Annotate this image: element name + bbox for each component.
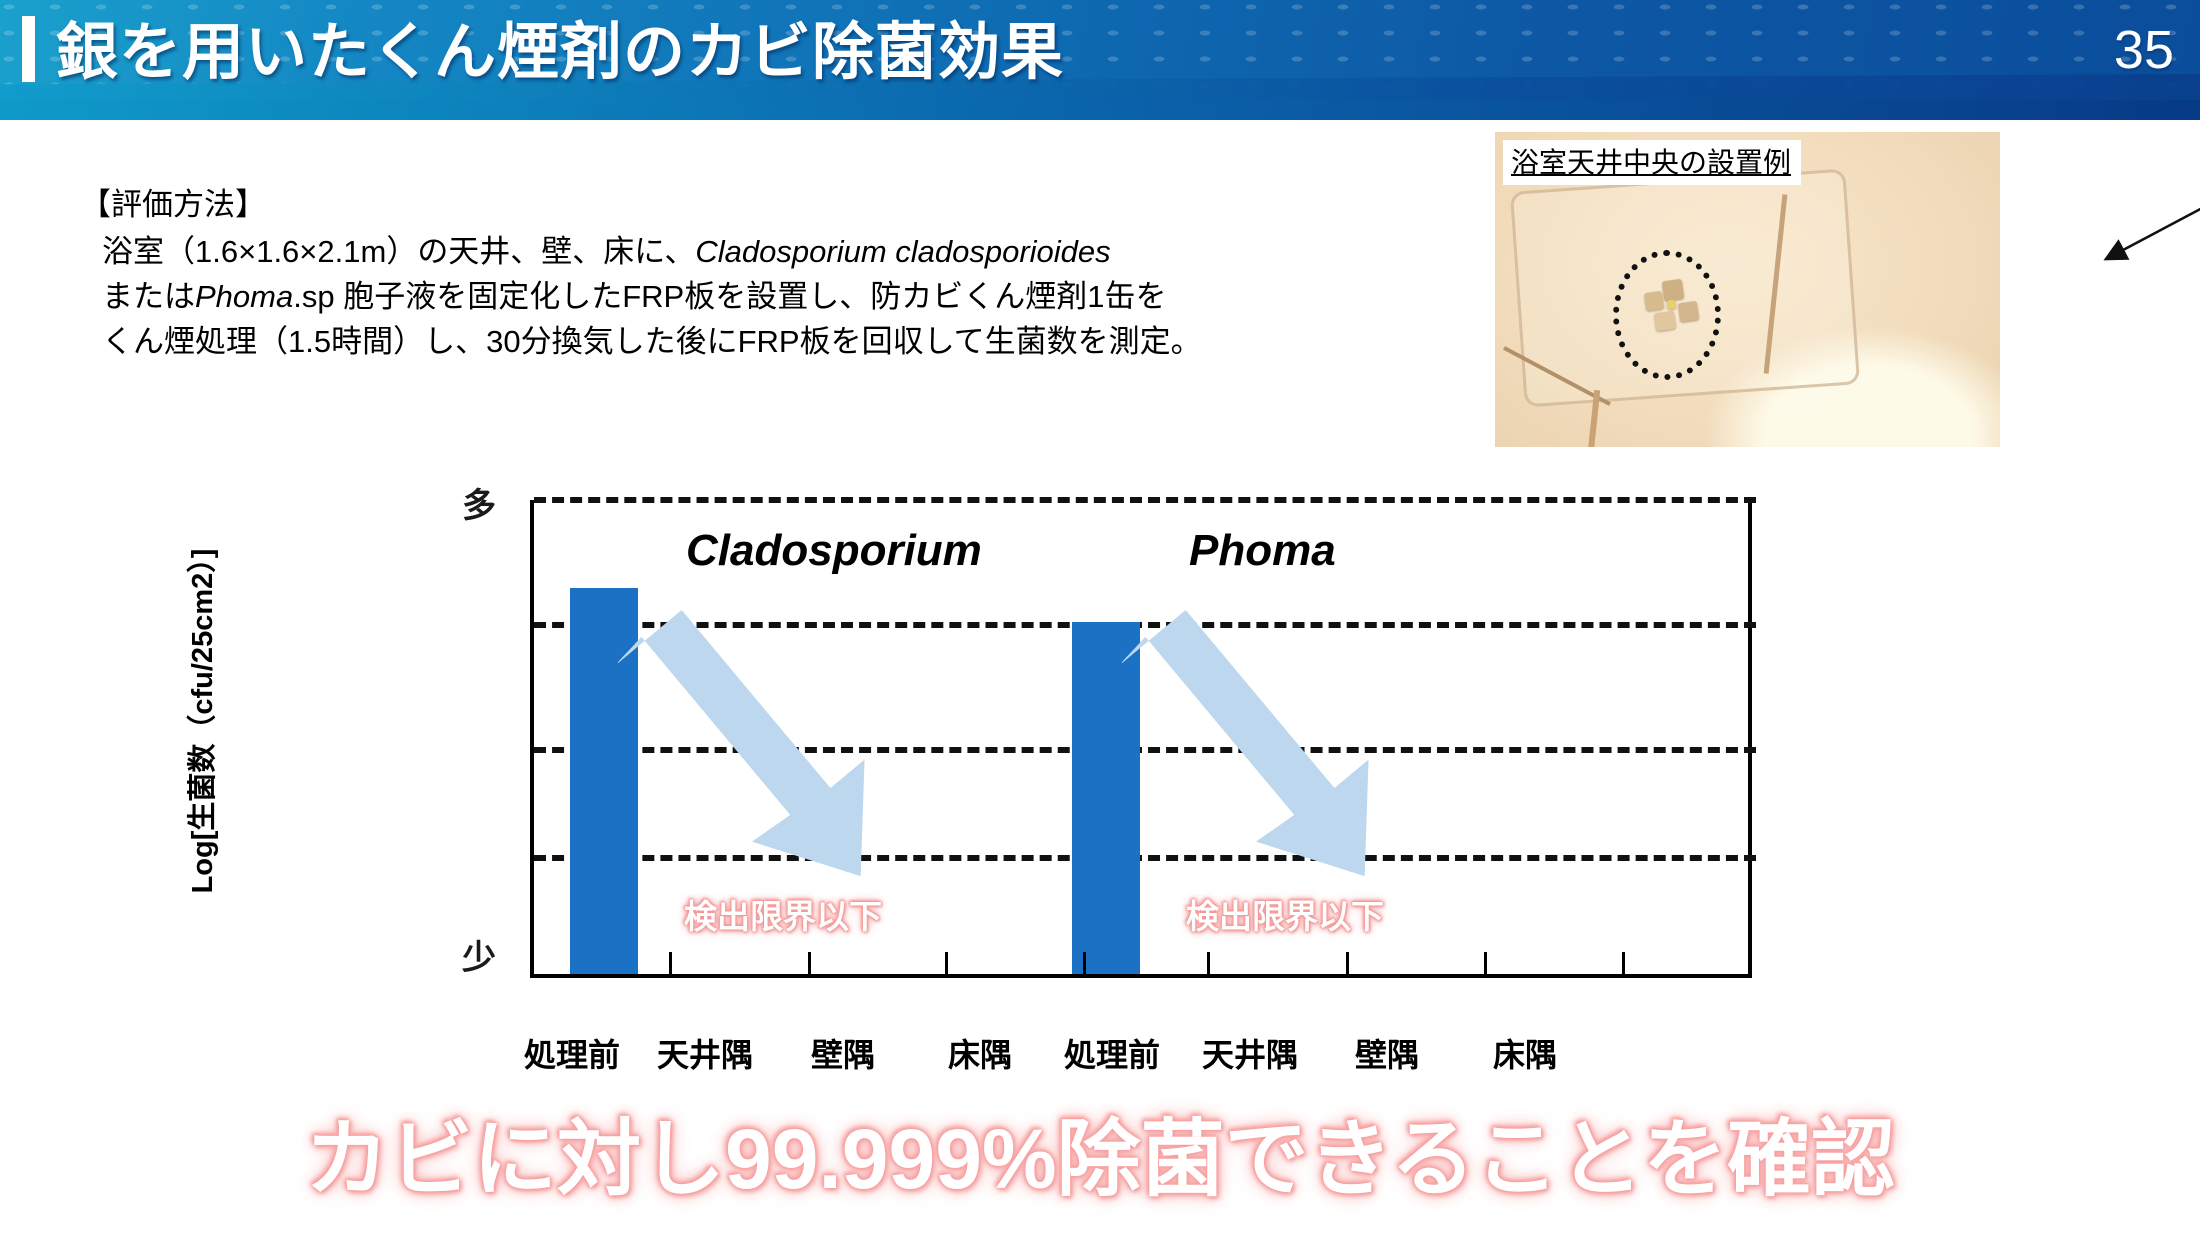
chart-y-axis-label: Log[生菌数（cfu/25cm2）] — [179, 491, 221, 951]
frp-chip-3 — [1654, 311, 1676, 332]
method-line-1-text: 浴室（1.6×1.6×2.1m）の天井、壁、床に、 — [102, 234, 695, 269]
x-label-g1-wall: 壁隅 — [763, 1030, 923, 1076]
method-line-2-post: .sp 胞子液を固定化したFRP板を設置し、防カビくん煙剤1缶を — [293, 279, 1166, 314]
frp-chip-2 — [1662, 279, 1685, 302]
x-label-g1-ceiling: 天井隅 — [625, 1030, 785, 1076]
method-line-2: またはPhoma.sp 胞子液を固定化したFRP板を設置し、防カビくん煙剤1缶を — [102, 274, 1410, 319]
x-label-g1-before: 処理前 — [492, 1030, 652, 1076]
evaluation-method-block: 【評価方法】 浴室（1.6×1.6×2.1m）の天井、壁、床に、Cladospo… — [80, 182, 1410, 364]
title-accent-bar — [22, 16, 35, 82]
x-tick-6 — [1346, 952, 1349, 974]
species-label-phoma: Phoma — [1189, 526, 1336, 576]
x-tick-4 — [1083, 952, 1086, 974]
method-heading: 【評価方法】 — [80, 182, 1410, 227]
method-species-cladosporium: Cladosporium cladosporioides — [695, 234, 1110, 269]
installation-photo-wrapper: 浴室天井中央の設置例 FRP評価板 — [1495, 132, 2000, 447]
x-label-g2-wall: 壁隅 — [1307, 1030, 1467, 1076]
method-line-3: くん煙処理（1.5時間）し、30分換気した後にFRP板を回収して生菌数を測定。 — [102, 319, 1410, 364]
decline-arrow-cladosporium-icon — [618, 600, 878, 900]
slide-header: 銀を用いたくん煙剤のカビ除菌効果 35 — [0, 0, 2200, 120]
frp-chip-4 — [1678, 301, 1699, 322]
gridline-top — [534, 497, 1756, 503]
species-label-cladosporium: Cladosporium — [686, 526, 982, 576]
page-number: 35 — [2114, 14, 2174, 86]
y-axis-bottom-marker: 少 — [462, 930, 496, 979]
bar-phoma-before — [1072, 622, 1140, 974]
chart-plot-area: Cladosporium Phoma 検出限界以下 検出限界以下 — [530, 500, 1752, 978]
x-label-g2-floor: 床隅 — [1445, 1030, 1605, 1076]
frp-chip-center — [1667, 300, 1676, 309]
frp-pointer-arrow-icon — [2090, 180, 2200, 290]
x-tick-3 — [945, 952, 948, 974]
bar-cladosporium-before — [570, 588, 638, 974]
method-species-phoma: Phoma — [195, 279, 293, 314]
header-bottom-band — [0, 100, 2200, 120]
gridline-2 — [534, 622, 1756, 628]
page-title: 銀を用いたくん煙剤のカビ除菌効果 — [56, 8, 1064, 98]
gridline-3 — [534, 747, 1756, 753]
method-line-1: 浴室（1.6×1.6×2.1m）の天井、壁、床に、Cladosporium cl… — [102, 229, 1410, 274]
photo-caption: 浴室天井中央の設置例 — [1503, 140, 1801, 185]
frp-chip-1 — [1644, 291, 1664, 311]
x-tick-5 — [1207, 952, 1210, 974]
below-detection-label-phoma: 検出限界以下 — [1186, 890, 1384, 938]
x-tick-8 — [1622, 952, 1625, 974]
conclusion-text: カビに対し99.999%除菌できることを確認 — [0, 1092, 2200, 1213]
x-tick-7 — [1484, 952, 1487, 974]
method-line-2-pre: または — [102, 279, 195, 314]
x-tick-2 — [808, 952, 811, 974]
method-body: 浴室（1.6×1.6×2.1m）の天井、壁、床に、Cladosporium cl… — [80, 229, 1410, 364]
x-tick-1 — [669, 952, 672, 974]
below-detection-label-cladosporium: 検出限界以下 — [684, 890, 882, 938]
x-label-g2-ceiling: 天井隅 — [1170, 1030, 1330, 1076]
y-axis-top-marker: 多 — [462, 478, 496, 527]
decline-arrow-phoma-icon — [1122, 600, 1382, 900]
x-label-g1-floor: 床隅 — [900, 1030, 1060, 1076]
gridline-4 — [534, 855, 1756, 861]
x-label-g2-before: 処理前 — [1032, 1030, 1192, 1076]
